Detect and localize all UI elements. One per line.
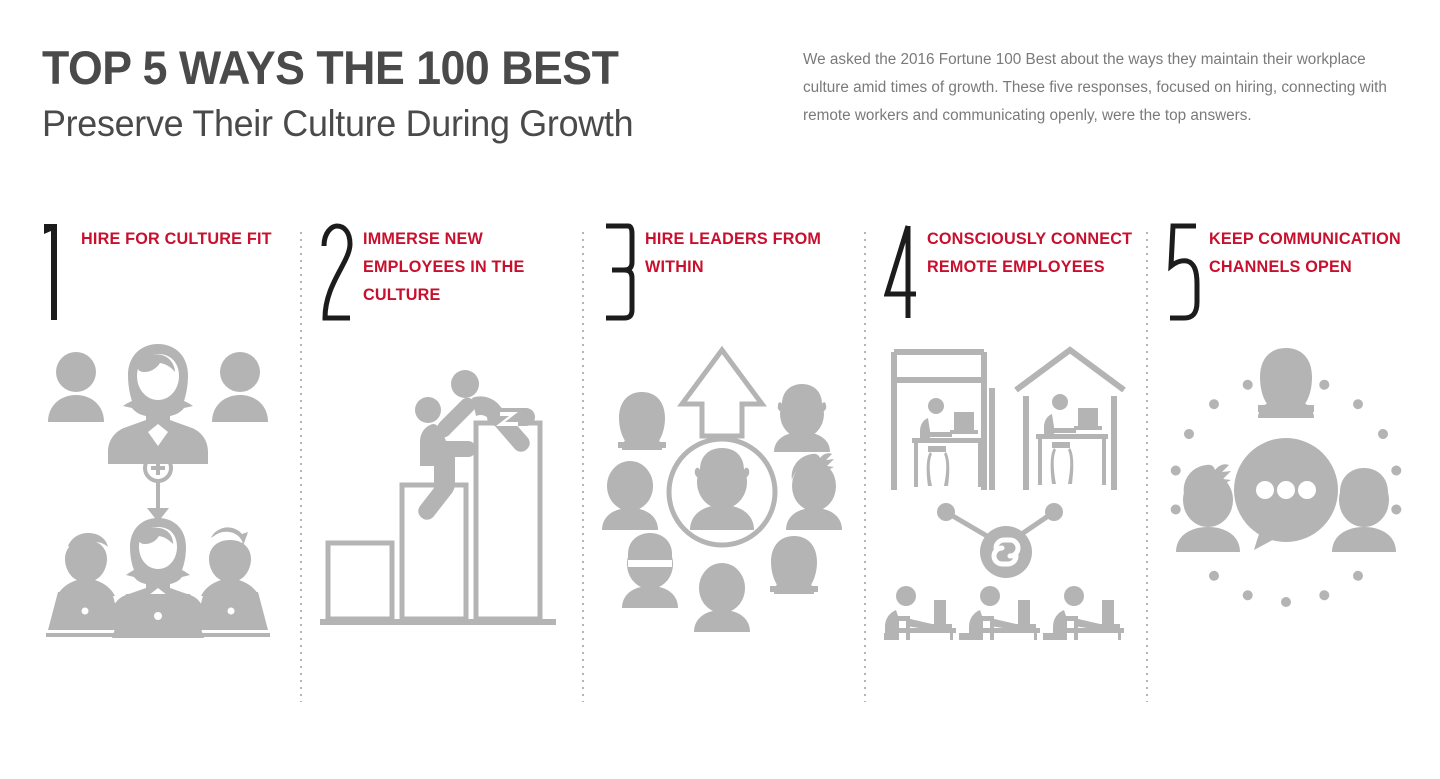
column-header: CONSCIOUSLY CONNECT REMOTE EMPLOYEES bbox=[884, 222, 1146, 332]
column-label: HIRE FOR CULTURE FIT bbox=[81, 226, 291, 254]
column-header: HIRE FOR CULTURE FIT bbox=[38, 222, 300, 332]
title-block: TOP 5 WAYS THE 100 BEST Preserve Their C… bbox=[42, 44, 782, 144]
column-divider-1 bbox=[300, 232, 302, 702]
column-keep-communication-open: KEEP COMMUNICATION CHANNELS OPEN bbox=[1166, 222, 1428, 702]
column-label: HIRE LEADERS FROM WITHIN bbox=[645, 226, 855, 282]
column-label: CONSCIOUSLY CONNECT REMOTE EMPLOYEES bbox=[927, 226, 1157, 282]
column-header: KEEP COMMUNICATION CHANNELS OPEN bbox=[1166, 222, 1428, 332]
column-header: IMMERSE NEW EMPLOYEES IN THE CULTURE bbox=[320, 222, 582, 332]
column-header: HIRE LEADERS FROM WITHIN bbox=[602, 222, 864, 332]
numeral-1-icon bbox=[38, 222, 78, 322]
column-divider-3 bbox=[864, 232, 866, 702]
illustration-team-hiring bbox=[38, 340, 300, 690]
page-title: TOP 5 WAYS THE 100 BEST bbox=[42, 44, 745, 91]
page-subtitle: Preserve Their Culture During Growth bbox=[42, 105, 760, 144]
illustration-leaders-circle bbox=[602, 340, 864, 690]
numeral-5-icon bbox=[1166, 222, 1206, 322]
column-connect-remote-employees: CONSCIOUSLY CONNECT REMOTE EMPLOYEES bbox=[884, 222, 1146, 702]
column-hire-leaders-from-within: HIRE LEADERS FROM WITHIN bbox=[602, 222, 864, 702]
column-hire-for-culture-fit: HIRE FOR CULTURE FIT bbox=[38, 222, 300, 702]
columns-container: HIRE FOR CULTURE FIT bbox=[0, 222, 1440, 712]
numeral-2-icon bbox=[320, 222, 360, 322]
column-divider-4 bbox=[1146, 232, 1148, 702]
column-divider-2 bbox=[582, 232, 584, 702]
column-label: KEEP COMMUNICATION CHANNELS OPEN bbox=[1209, 226, 1440, 282]
illustration-remote-connection bbox=[884, 340, 1146, 690]
numeral-3-icon bbox=[602, 222, 642, 322]
numeral-4-icon bbox=[884, 222, 924, 322]
intro-paragraph: We asked the 2016 Fortune 100 Best about… bbox=[803, 46, 1393, 130]
illustration-communication-circle bbox=[1166, 340, 1428, 690]
column-immerse-new-employees: IMMERSE NEW EMPLOYEES IN THE CULTURE bbox=[320, 222, 582, 702]
illustration-climbing-bars bbox=[320, 340, 582, 690]
header: TOP 5 WAYS THE 100 BEST Preserve Their C… bbox=[0, 0, 1440, 200]
infographic-page: TOP 5 WAYS THE 100 BEST Preserve Their C… bbox=[0, 0, 1440, 779]
column-label: IMMERSE NEW EMPLOYEES IN THE CULTURE bbox=[363, 226, 573, 310]
speech-bubble-icon bbox=[1234, 438, 1338, 550]
